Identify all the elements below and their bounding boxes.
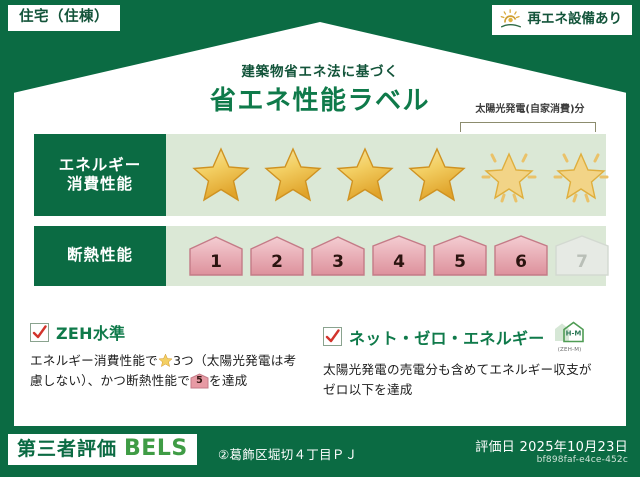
svg-text:H-M: H-M	[565, 330, 581, 338]
inline-house-value: 5	[190, 374, 209, 389]
star-filled	[406, 144, 468, 206]
badge-housing-type: 住宅（住棟）	[8, 5, 120, 31]
criteria-section: ZEH水準 エネルギー消費性能で3つ（太陽光発電は考慮しない）、かつ断熱性能で5…	[30, 320, 616, 400]
footer-bar: 第三者評価 BELS ②葛飾区堀切４丁目ＰＪ 評価日 2025年10月23日 b…	[0, 426, 640, 477]
insulation-level-number: 5	[432, 252, 488, 272]
checkbox-checked-icon	[30, 323, 49, 342]
zeh-m-logo-caption: (ZEH-M)	[553, 347, 587, 353]
solar-portion-bracket	[460, 122, 596, 132]
star-filled	[190, 144, 252, 206]
criterion-zeh-body: エネルギー消費性能で3つ（太陽光発電は考慮しない）、かつ断熱性能で5を達成	[30, 351, 309, 390]
zeh-m-logo-icon: H-M (ZEH-M)	[553, 320, 587, 353]
bels-evaluation-badge: 第三者評価 BELS	[8, 434, 197, 465]
insulation-level-number: 6	[493, 252, 549, 272]
insulation-performance-body: 1 2 3	[166, 226, 606, 286]
insulation-level-number: 1	[188, 252, 244, 272]
performance-card: エネルギー 消費性能	[34, 134, 606, 306]
insulation-label-text: 断熱性能	[67, 246, 133, 265]
insulation-level-number: 7	[554, 252, 610, 272]
star-icon	[158, 353, 173, 368]
star-rating: 太陽光発電(自家消費)分	[166, 134, 606, 216]
insulation-level-number: 2	[249, 252, 305, 272]
insulation-level-number: 4	[371, 252, 427, 272]
sun-icon	[499, 9, 523, 31]
evaluation-hash: bf898faf-e4ce-452c	[537, 455, 628, 465]
energy-performance-label: エネルギー 消費性能	[34, 134, 166, 216]
checkbox-checked-icon	[323, 327, 342, 346]
criterion-zeh-text-a: エネルギー消費性能で	[30, 353, 158, 368]
solar-portion-caption: 太陽光発電(自家消費)分	[462, 104, 598, 115]
insulation-level-number: 3	[310, 252, 366, 272]
insulation-performance-row: 断熱性能 1	[34, 226, 606, 286]
criterion-net-zero-body: 太陽光発電の売電分も含めてエネルギー収支がゼロ以下を達成	[323, 360, 602, 399]
insulation-scale: 1 2 3	[166, 226, 606, 286]
star-filled	[262, 144, 324, 206]
energy-label-line2: 消費性能	[67, 175, 133, 194]
label-subtitle: 建築物省エネ法に基づく	[0, 60, 640, 80]
energy-performance-row: エネルギー 消費性能	[34, 134, 606, 216]
insulation-level: 1	[188, 235, 244, 277]
criterion-net-zero-title: ネット・ゼロ・エネルギー	[349, 325, 545, 349]
evaluation-date: 評価日 2025年10月23日	[475, 436, 628, 455]
insulation-level: 6	[493, 235, 549, 277]
star-filled	[334, 144, 396, 206]
insulation-performance-label: 断熱性能	[34, 226, 166, 286]
bels-en-label: BELS	[124, 438, 188, 460]
insulation-level: 5	[432, 235, 488, 277]
insulation-level: 2	[249, 235, 305, 277]
badge-renewable-equipment: 再エネ設備あり	[492, 5, 633, 35]
criterion-zeh-title: ZEH水準	[56, 320, 125, 344]
property-address: ②葛飾区堀切４丁目ＰＪ	[218, 444, 358, 463]
badge-renewable-label: 再エネ設備あり	[528, 13, 623, 27]
star-solar	[550, 144, 612, 206]
energy-performance-body: 太陽光発電(自家消費)分	[166, 134, 606, 216]
criterion-zeh: ZEH水準 エネルギー消費性能で3つ（太陽光発電は考慮しない）、かつ断熱性能で5…	[30, 320, 323, 400]
criterion-net-zero-energy: ネット・ゼロ・エネルギー H-M (ZEH-M) 太陽光発電の売電分も含めてエネ…	[323, 320, 616, 400]
insulation-level: 4	[371, 235, 427, 277]
insulation-level: 3	[310, 235, 366, 277]
insulation-house-inline-icon: 5	[190, 373, 209, 389]
star-solar	[478, 144, 540, 206]
insulation-level-inactive: 7	[554, 235, 610, 277]
energy-label-root: 住宅（住棟） 再エネ設備あり 建築物省エネ法に基づく 省エネ性能ラベル	[0, 0, 640, 477]
bels-jp-label: 第三者評価	[17, 440, 117, 459]
criterion-zeh-text-c: を達成	[209, 373, 247, 388]
energy-label-line1: エネルギー	[59, 156, 142, 175]
